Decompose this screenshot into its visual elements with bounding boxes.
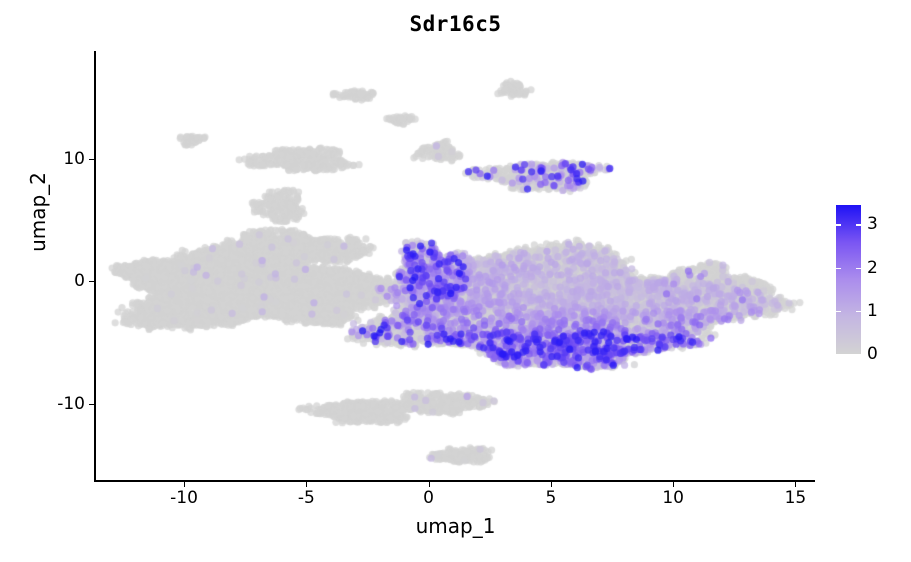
x-tick-label: 0 [423, 488, 434, 508]
x-axis-spine [94, 480, 815, 482]
x-tick-label: 10 [662, 488, 684, 508]
x-tick-mark [795, 482, 796, 487]
x-axis-label: umap_1 [96, 514, 815, 538]
x-tick-mark [429, 482, 430, 487]
x-tick-mark [306, 482, 307, 487]
colorbar-tick-label: 1 [867, 301, 878, 321]
x-tick-label: -10 [170, 488, 198, 508]
colorbar-tick-label: 0 [867, 344, 878, 364]
x-tick-label: 15 [785, 488, 807, 508]
colorbar-tick-mark [836, 311, 841, 313]
colorbar-tick-label: 3 [867, 214, 878, 234]
colorbar-tick-mark [856, 268, 861, 270]
y-axis-label: umap_2 [26, 112, 50, 312]
figure-canvas: Sdr16c5 -10-5051015 -10010 umap_1 umap_2… [0, 0, 911, 562]
umap-scatter-points [96, 53, 815, 480]
y-tick-label: 10 [63, 149, 85, 169]
colorbar-gradient [836, 205, 861, 354]
colorbar-tick-mark [836, 268, 841, 270]
colorbar-tick-mark [856, 311, 861, 313]
colorbar-tick-mark [856, 224, 861, 226]
x-tick-mark [551, 482, 552, 487]
y-tick-label: -10 [57, 394, 85, 414]
x-tick-mark [184, 482, 185, 487]
page-title: Sdr16c5 [96, 12, 815, 36]
scatter-plot-axes [96, 53, 815, 480]
colorbar-tick-label: 2 [867, 258, 878, 278]
colorbar-tick-mark [836, 224, 841, 226]
colorbar: 0123 [836, 205, 861, 354]
x-tick-label: 5 [545, 488, 556, 508]
y-tick-mark [89, 281, 94, 282]
y-tick-mark [89, 159, 94, 160]
x-tick-label: -5 [298, 488, 315, 508]
y-tick-label: 0 [74, 271, 85, 291]
x-tick-mark [673, 482, 674, 487]
y-tick-mark [89, 404, 94, 405]
y-axis-spine [94, 51, 96, 482]
